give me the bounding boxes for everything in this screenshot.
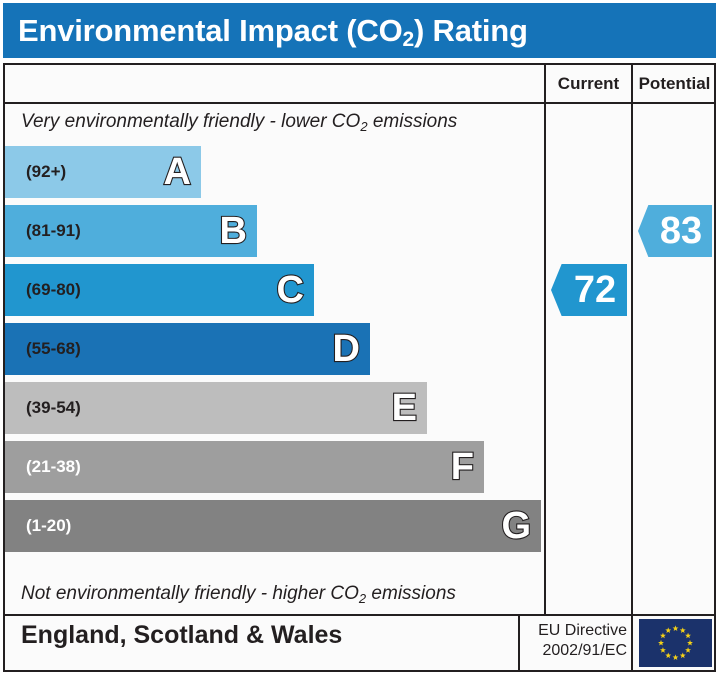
caption-top-prefix: Very environmentally friendly - lower CO xyxy=(21,111,360,132)
column-header-potential: Potential xyxy=(633,65,716,102)
page-title-prefix: Environmental Impact (CO xyxy=(18,13,403,48)
band-range-c: (69-80) xyxy=(5,280,81,300)
footer-eu-directive: EU Directive 2002/91/EC xyxy=(524,621,627,661)
rating-band-f: (21-38)F xyxy=(5,441,484,493)
caption-top-subscript: 2 xyxy=(360,119,367,134)
footer-divider-right xyxy=(631,614,633,670)
page-title-subscript: 2 xyxy=(403,28,414,51)
potential-rating-arrow: 83 xyxy=(638,205,712,257)
band-range-a: (92+) xyxy=(5,162,66,182)
current-rating-arrow: 72 xyxy=(551,264,627,316)
band-range-d: (55-68) xyxy=(5,339,81,359)
header-row-divider xyxy=(5,102,714,104)
eu-directive-line2: 2002/91/EC xyxy=(524,641,627,661)
rating-band-e: (39-54)E xyxy=(5,382,427,434)
caption-very-friendly: Very environmentally friendly - lower CO… xyxy=(21,111,457,133)
band-range-b: (81-91) xyxy=(5,221,81,241)
caption-bottom-prefix: Not environmentally friendly - higher CO xyxy=(21,583,359,604)
eu-flag-icon xyxy=(639,619,712,667)
caption-top-suffix: emissions xyxy=(368,111,458,132)
caption-not-friendly: Not environmentally friendly - higher CO… xyxy=(21,583,456,605)
rating-band-b: (81-91)B xyxy=(5,205,257,257)
band-letter-b: B xyxy=(220,212,247,250)
rating-band-g: (1-20)G xyxy=(5,500,541,552)
band-range-e: (39-54) xyxy=(5,398,81,418)
rating-band-c: (69-80)C xyxy=(5,264,314,316)
chart-title-bar: Environmental Impact (CO2) Rating xyxy=(3,3,716,58)
band-letter-e: E xyxy=(392,389,417,427)
footer-region-label: England, Scotland & Wales xyxy=(21,621,342,650)
caption-bottom-subscript: 2 xyxy=(359,591,366,606)
band-letter-d: D xyxy=(333,330,360,368)
band-letter-c: C xyxy=(277,271,304,309)
band-letter-f: F xyxy=(451,448,474,486)
epc-environmental-impact-chart: Environmental Impact (CO2) Rating Curren… xyxy=(0,0,719,675)
page-title: Environmental Impact (CO2) Rating xyxy=(3,13,528,49)
current-column-divider xyxy=(544,65,546,614)
chart-table-frame: Current Potential Very environmentally f… xyxy=(3,63,716,672)
potential-column-divider xyxy=(631,65,633,614)
band-range-g: (1-20) xyxy=(5,516,71,536)
footer-row-divider xyxy=(5,614,714,616)
rating-band-a: (92+)A xyxy=(5,146,201,198)
band-range-f: (21-38) xyxy=(5,457,81,477)
eu-directive-line1: EU Directive xyxy=(524,621,627,641)
column-header-current: Current xyxy=(546,65,631,102)
page-title-suffix: ) Rating xyxy=(414,13,528,48)
footer-divider-left xyxy=(518,614,520,670)
caption-bottom-suffix: emissions xyxy=(366,583,456,604)
band-letter-g: G xyxy=(501,507,531,545)
band-letter-a: A xyxy=(164,153,191,191)
rating-band-d: (55-68)D xyxy=(5,323,370,375)
